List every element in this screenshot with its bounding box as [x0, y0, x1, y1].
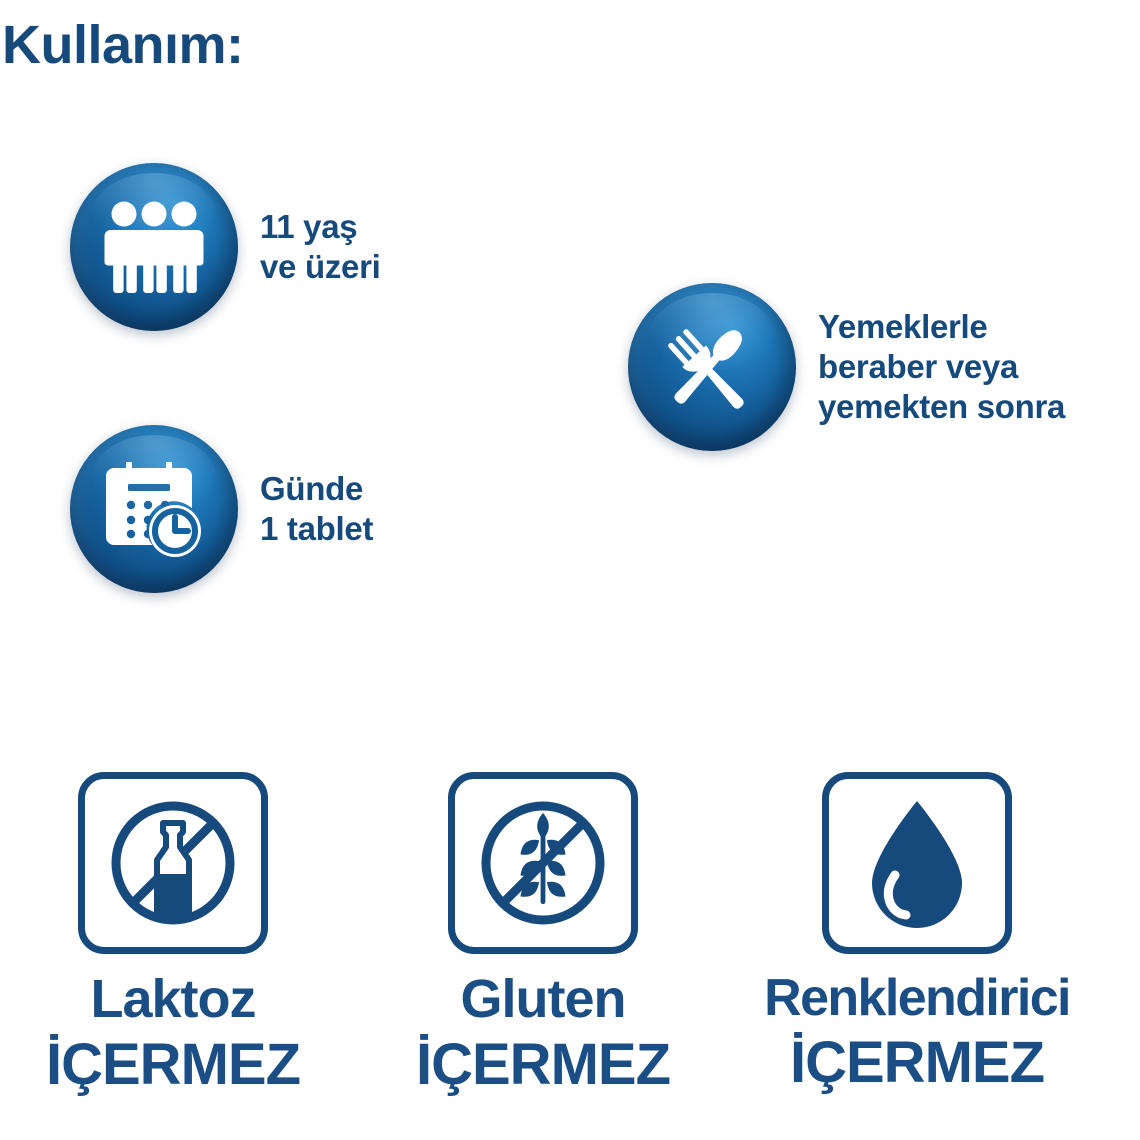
usage-item-dose: Günde 1 tablet — [70, 425, 373, 593]
sphere-badge-age — [70, 163, 238, 331]
usage-label-age-line1: 11 yaş — [260, 207, 381, 247]
usage-label-dose-line1: Günde — [260, 469, 373, 509]
usage-item-age: 11 yaş ve üzeri — [70, 163, 381, 331]
water-drop-icon — [854, 793, 980, 933]
usage-item-meal: Yemeklerle beraber veya yemekten sonra — [628, 283, 1065, 451]
usage-label-age: 11 yaş ve üzeri — [260, 207, 381, 288]
badge-frame-lactose — [78, 772, 268, 954]
badge-frame-gluten — [448, 772, 638, 954]
free-from-badge-gluten: Gluten İÇERMEZ — [378, 772, 708, 1097]
badge-label-colourant-top: Renklendirici — [752, 970, 1082, 1026]
badge-label-colourant: Renklendirici İÇERMEZ — [752, 970, 1082, 1095]
sphere-badge-meal — [628, 283, 796, 451]
badge-label-lactose-top: Laktoz — [8, 970, 338, 1028]
badge-label-colourant-bottom: İÇERMEZ — [752, 1032, 1082, 1095]
no-lactose-icon — [100, 790, 246, 936]
badge-frame-colourant — [822, 772, 1012, 954]
sphere-badge-dose — [70, 425, 238, 593]
usage-label-dose-line2: 1 tablet — [260, 509, 373, 549]
badge-label-gluten: Gluten İÇERMEZ — [378, 970, 708, 1097]
usage-label-age-line2: ve üzeri — [260, 247, 381, 287]
free-from-badge-lactose: Laktoz İÇERMEZ — [8, 772, 338, 1097]
no-gluten-icon — [470, 790, 616, 936]
usage-label-meal-line2: beraber veya — [818, 347, 1065, 387]
free-from-badge-colourant: Renklendirici İÇERMEZ — [752, 772, 1082, 1095]
badge-label-gluten-top: Gluten — [378, 970, 708, 1028]
usage-label-meal-line3: yemekten sonra — [818, 387, 1065, 427]
usage-label-meal: Yemeklerle beraber veya yemekten sonra — [818, 307, 1065, 428]
badge-label-lactose-bottom: İÇERMEZ — [8, 1034, 338, 1097]
badge-label-lactose: Laktoz İÇERMEZ — [8, 970, 338, 1097]
page-title: Kullanım: — [2, 18, 244, 72]
usage-label-meal-line1: Yemeklerle — [818, 307, 1065, 347]
usage-infographic: Kullanım: 11 yaş ve üzeri — [0, 0, 1140, 1140]
badge-label-gluten-bottom: İÇERMEZ — [378, 1034, 708, 1097]
usage-label-dose: Günde 1 tablet — [260, 469, 373, 550]
